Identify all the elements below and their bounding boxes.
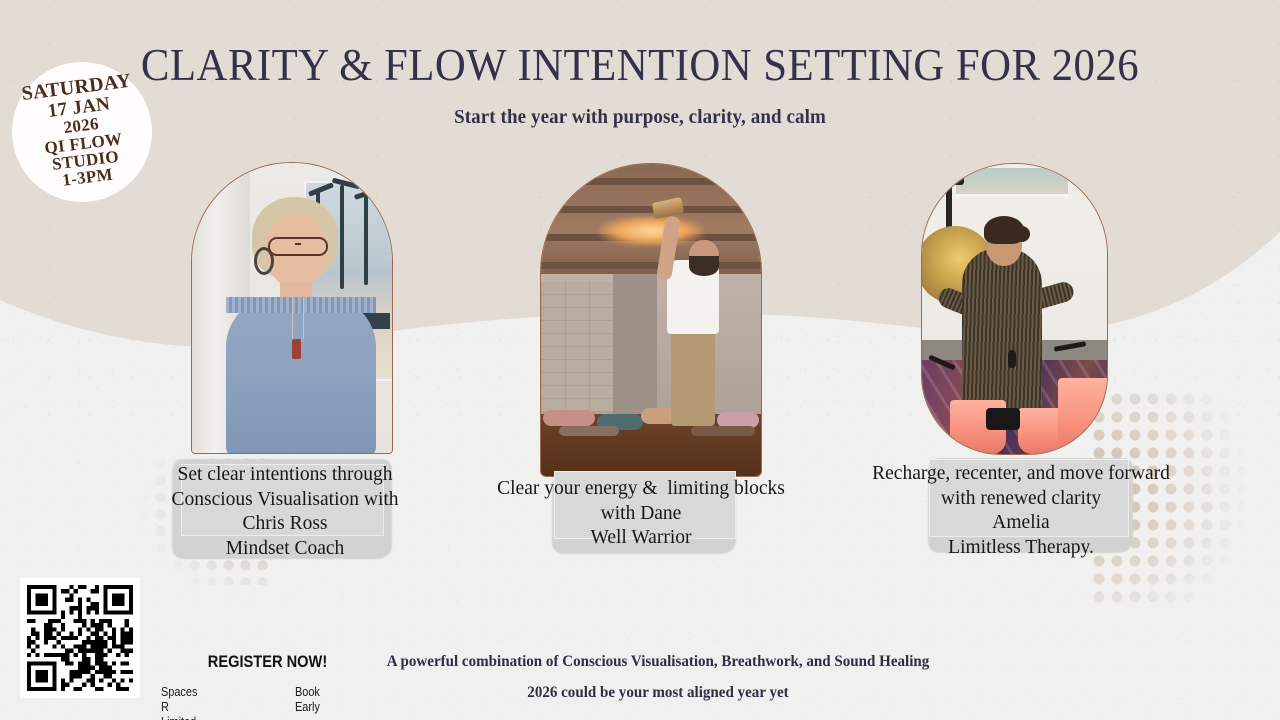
qr-code-image <box>27 585 133 691</box>
poster-canvas: CLARITY & FLOW INTENTION SETTING FOR 202… <box>0 0 1280 720</box>
presenter-photo-chris-ross <box>191 162 393 454</box>
badge-line-time: 1-3PM <box>61 166 113 189</box>
caption-text-3: Recharge, recenter, and move forward wit… <box>856 462 1186 560</box>
combination-tagline: A powerful combination of Conscious Visu… <box>367 653 950 671</box>
spaces-limited-label: Spaces R Limited <box>161 684 197 720</box>
presenter-photo-amelia <box>921 163 1108 455</box>
photo-artwork-2 <box>541 164 761 476</box>
caption-text-1: Set clear intentions through Conscious V… <box>160 463 410 561</box>
page-subtitle: Start the year with purpose, clarity, an… <box>32 106 1248 129</box>
register-now-label[interactable]: REGISTER NOW! <box>166 652 368 672</box>
photo-artwork-3 <box>922 164 1107 454</box>
photo-artwork-1 <box>192 163 392 453</box>
presenter-photo-dane <box>540 163 762 477</box>
aligned-year-tagline: 2026 could be your most aligned year yet <box>367 684 950 702</box>
page-title: CLARITY & FLOW INTENTION SETTING FOR 202… <box>45 42 1235 88</box>
qr-code[interactable] <box>20 578 140 698</box>
caption-text-2: Clear your energy & limiting blocks with… <box>486 477 796 551</box>
book-early-label: Book Early <box>295 684 320 714</box>
